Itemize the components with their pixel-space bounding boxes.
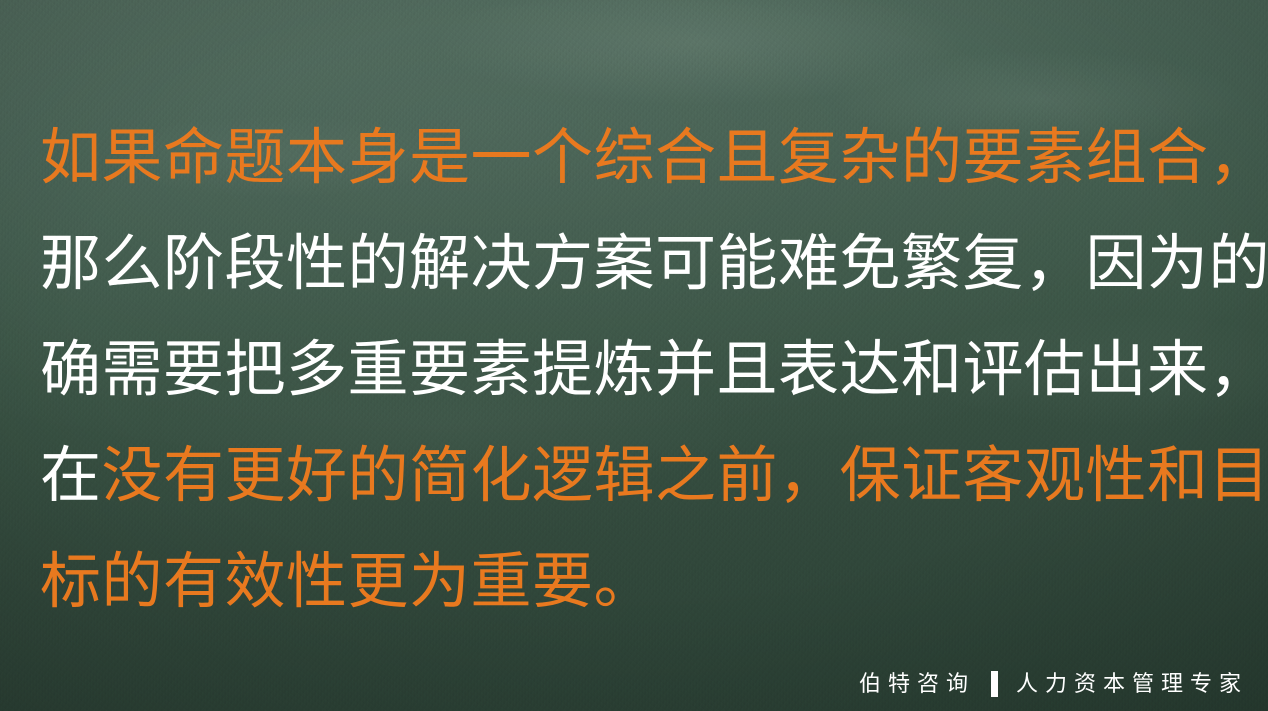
copy-line-5: 标的有效性更为重要。 [40,528,1240,634]
copy-line-1: 如果命题本身是一个综合且复杂的要素组合， [40,104,1240,210]
copy-line-4-segment-1: 在 [40,441,102,509]
footer-divider-bar-icon [991,671,998,697]
copy-line-3: 确需要把多重要素提炼并且表达和评估出来， [40,316,1240,422]
body-copy-block: 如果命题本身是一个综合且复杂的要素组合， 那么阶段性的解决方案可能难免繁复，因为… [40,104,1240,634]
copy-line-3-segment-1: 确需要把多重要素提炼并且表达和评估出来， [40,335,1268,403]
copy-line-2: 那么阶段性的解决方案可能难免繁复，因为的 [40,210,1240,316]
copy-line-2-segment-1: 那么阶段性的解决方案可能难免繁复，因为的 [40,229,1268,297]
copy-line-4: 在没有更好的简化逻辑之前，保证客观性和目 [40,422,1240,528]
copy-line-5-segment-1: 标的有效性更为重要。 [40,547,655,615]
footer-brand-name: 伯特咨询 [859,673,989,695]
footer-credit: 伯特咨询 人力资本管理专家 [859,671,1248,697]
copy-line-1-segment-1: 如果命题本身是一个综合且复杂的要素组合， [40,123,1268,191]
slide-canvas: 如果命题本身是一个综合且复杂的要素组合， 那么阶段性的解决方案可能难免繁复，因为… [0,0,1268,711]
footer-tagline: 人力资本管理专家 [1014,673,1248,695]
copy-line-4-segment-2: 没有更好的简化逻辑之前，保证客观性和目 [102,441,1268,509]
